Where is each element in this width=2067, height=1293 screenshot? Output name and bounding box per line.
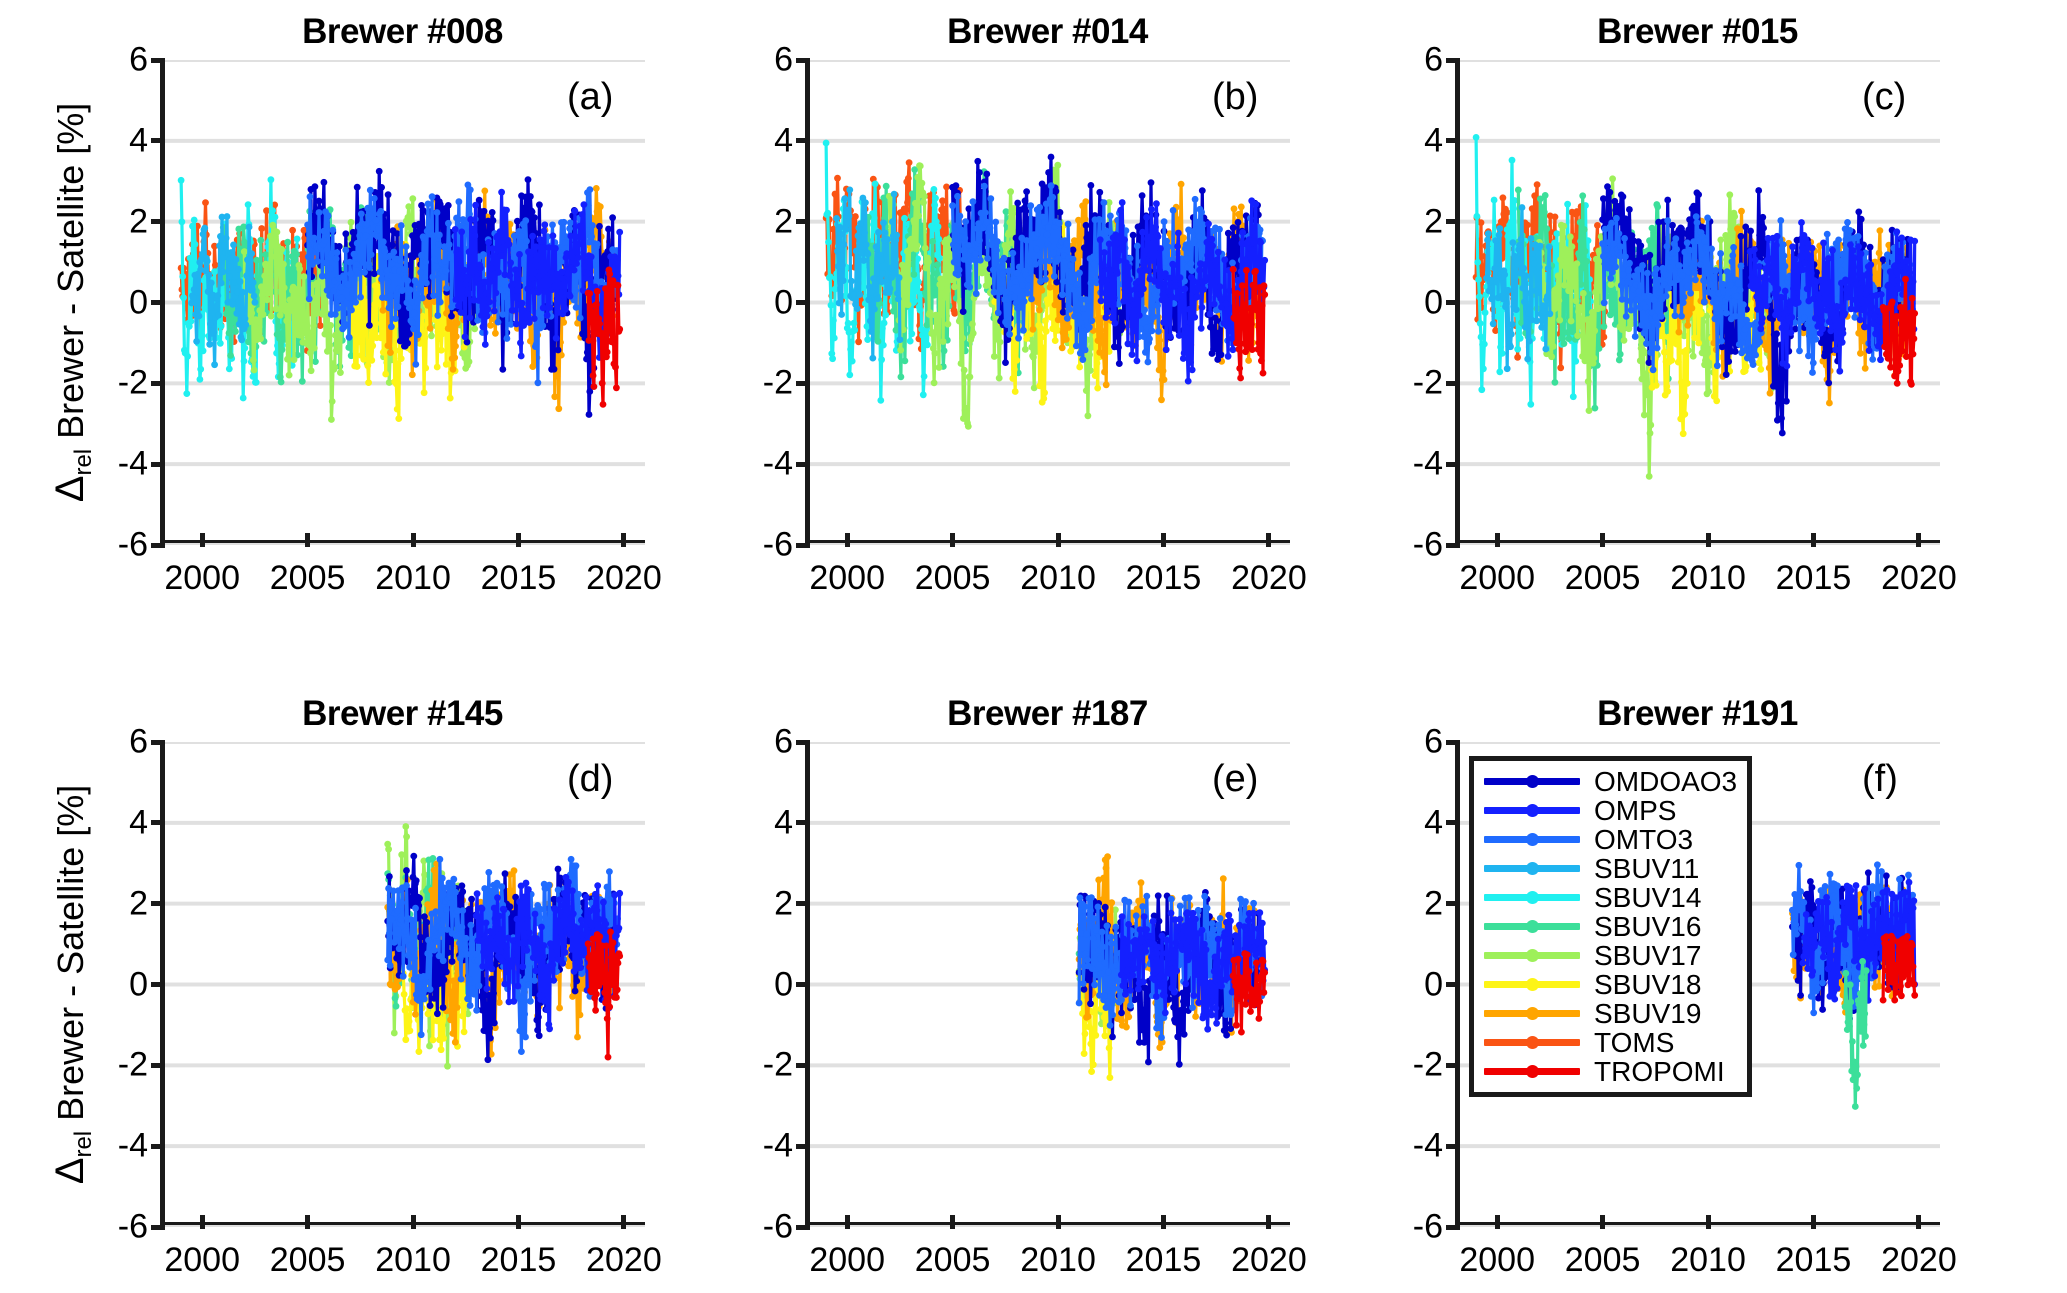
series-marker bbox=[1175, 230, 1182, 237]
series-marker bbox=[1199, 304, 1206, 311]
series-marker bbox=[1060, 278, 1067, 285]
y-axis-label-text: Brewer - Satellite [%] bbox=[50, 103, 91, 449]
series-marker bbox=[405, 214, 412, 221]
series-marker bbox=[824, 210, 831, 217]
series-marker bbox=[897, 347, 904, 354]
series-marker bbox=[912, 200, 919, 207]
series-marker bbox=[1139, 192, 1146, 199]
series-marker bbox=[1235, 306, 1242, 313]
series-marker bbox=[388, 323, 395, 330]
series-marker bbox=[585, 270, 592, 277]
series-marker bbox=[1009, 375, 1016, 382]
series-marker bbox=[560, 319, 567, 326]
series-marker bbox=[1006, 331, 1013, 338]
series-marker bbox=[982, 209, 989, 216]
series-marker bbox=[541, 228, 548, 235]
series-marker bbox=[1104, 309, 1111, 316]
series-marker bbox=[218, 280, 225, 287]
series-marker bbox=[187, 255, 194, 262]
series-marker bbox=[1007, 188, 1014, 195]
series-marker bbox=[210, 329, 217, 336]
series-marker bbox=[891, 191, 898, 198]
series-marker bbox=[1161, 280, 1168, 287]
series-marker bbox=[215, 292, 222, 299]
y-tick-mark bbox=[151, 381, 165, 386]
series-marker bbox=[389, 242, 396, 249]
series-marker bbox=[599, 380, 606, 387]
series-marker bbox=[929, 238, 936, 245]
series-marker bbox=[411, 310, 418, 317]
series-marker bbox=[1083, 387, 1090, 394]
series-marker bbox=[179, 218, 186, 225]
series-marker bbox=[450, 366, 457, 373]
series-marker bbox=[616, 326, 623, 333]
plot-area-a bbox=[160, 60, 645, 545]
series-marker bbox=[1235, 211, 1242, 218]
series-marker bbox=[456, 198, 463, 205]
series-marker bbox=[259, 292, 266, 299]
series-marker bbox=[223, 310, 230, 317]
series-marker bbox=[922, 330, 929, 337]
series-marker bbox=[1185, 378, 1192, 385]
series-marker bbox=[1236, 365, 1243, 372]
series-marker bbox=[417, 285, 424, 292]
series-marker bbox=[846, 187, 853, 194]
series-marker bbox=[353, 261, 360, 268]
series-marker bbox=[361, 269, 368, 276]
series-marker bbox=[1120, 244, 1127, 251]
series-marker bbox=[1114, 270, 1121, 277]
plot-canvas-c bbox=[1455, 60, 1940, 545]
series-marker bbox=[434, 209, 441, 216]
series-marker bbox=[310, 322, 317, 329]
series-marker bbox=[956, 267, 963, 274]
series-marker bbox=[1601, 334, 1608, 341]
series-marker bbox=[1497, 344, 1504, 351]
series-marker bbox=[987, 195, 994, 202]
series-marker bbox=[1152, 224, 1159, 231]
series-marker bbox=[340, 272, 347, 279]
series-marker bbox=[377, 269, 384, 276]
series-marker bbox=[571, 267, 578, 274]
series-marker bbox=[1186, 319, 1193, 326]
series-marker bbox=[1002, 359, 1009, 366]
series-marker bbox=[436, 319, 443, 326]
series-marker bbox=[324, 348, 331, 355]
series-marker bbox=[833, 192, 840, 199]
series-marker bbox=[1170, 207, 1177, 214]
series-marker bbox=[1198, 209, 1205, 216]
series-marker bbox=[533, 341, 540, 348]
series-marker bbox=[280, 261, 287, 268]
series-marker bbox=[1012, 388, 1019, 395]
series-marker bbox=[1014, 200, 1021, 207]
series-marker bbox=[1236, 346, 1243, 353]
series-marker bbox=[528, 275, 535, 282]
series-marker bbox=[211, 361, 218, 368]
series-marker bbox=[1507, 229, 1514, 236]
series-marker bbox=[275, 253, 282, 260]
series-marker bbox=[178, 177, 185, 184]
series-marker bbox=[314, 258, 321, 265]
series-marker bbox=[970, 330, 977, 337]
series-marker bbox=[1111, 295, 1118, 302]
series-marker bbox=[897, 336, 904, 343]
series-marker bbox=[239, 289, 246, 296]
series-marker bbox=[1552, 214, 1559, 221]
series-marker bbox=[244, 256, 251, 263]
series-marker bbox=[284, 356, 291, 363]
series-marker bbox=[510, 281, 517, 288]
series-marker bbox=[428, 332, 435, 339]
series-marker bbox=[1056, 220, 1063, 227]
series-marker bbox=[284, 239, 291, 246]
series-marker bbox=[1141, 307, 1148, 314]
series-marker bbox=[1060, 329, 1067, 336]
series-marker bbox=[378, 276, 385, 283]
series-marker bbox=[1049, 194, 1056, 201]
series-marker bbox=[1253, 307, 1260, 314]
series-marker bbox=[1091, 261, 1098, 268]
series-marker bbox=[856, 291, 863, 298]
series-marker bbox=[1129, 342, 1136, 349]
series-marker bbox=[572, 287, 579, 294]
series-marker bbox=[1122, 293, 1129, 300]
series-marker bbox=[306, 296, 313, 303]
series-marker bbox=[355, 270, 362, 277]
series-marker bbox=[615, 273, 622, 280]
series-marker bbox=[1160, 368, 1167, 375]
series-marker bbox=[902, 358, 909, 365]
series-marker bbox=[304, 222, 311, 229]
series-marker bbox=[990, 266, 997, 273]
x-tick-mark bbox=[411, 533, 416, 547]
series-marker bbox=[1215, 249, 1222, 256]
series-marker bbox=[911, 298, 918, 305]
series-marker bbox=[300, 273, 307, 280]
series-marker bbox=[1115, 344, 1122, 351]
series-marker bbox=[551, 366, 558, 373]
series-marker bbox=[536, 201, 543, 208]
series-marker bbox=[281, 284, 288, 291]
series-marker bbox=[249, 286, 256, 293]
series-marker bbox=[857, 220, 864, 227]
series-marker bbox=[865, 251, 872, 258]
series-marker bbox=[1184, 347, 1191, 354]
series-marker bbox=[1235, 219, 1242, 226]
series-marker bbox=[454, 320, 461, 327]
series-marker bbox=[1514, 346, 1521, 353]
series-marker bbox=[871, 215, 878, 222]
series-marker bbox=[1514, 354, 1521, 361]
series-marker bbox=[969, 321, 976, 328]
series-marker bbox=[1081, 244, 1088, 251]
series-marker bbox=[1143, 214, 1150, 221]
series-marker bbox=[469, 226, 476, 233]
series-marker bbox=[596, 321, 603, 328]
series-marker bbox=[1135, 278, 1142, 285]
y-tick-mark bbox=[151, 300, 165, 305]
plot-canvas-b bbox=[805, 60, 1290, 545]
series-marker bbox=[335, 348, 342, 355]
series-marker bbox=[513, 321, 520, 328]
series-marker bbox=[440, 274, 447, 281]
series-marker bbox=[587, 186, 594, 193]
x-tick-label: 2020 bbox=[1231, 559, 1307, 598]
series-marker bbox=[1234, 290, 1241, 297]
series-marker bbox=[342, 247, 349, 254]
series-marker bbox=[419, 295, 426, 302]
series-marker bbox=[1082, 216, 1089, 223]
series-marker bbox=[1055, 317, 1062, 324]
series-marker bbox=[951, 284, 958, 291]
series-marker bbox=[1004, 321, 1011, 328]
series-marker bbox=[358, 211, 365, 218]
series-marker bbox=[1044, 241, 1051, 248]
series-marker bbox=[348, 219, 355, 226]
series-marker bbox=[579, 211, 586, 218]
series-marker bbox=[1085, 412, 1092, 419]
series-marker bbox=[855, 338, 862, 345]
series-marker bbox=[316, 209, 323, 216]
series-marker bbox=[260, 311, 267, 318]
x-tick-label: 2020 bbox=[586, 559, 662, 598]
series-marker bbox=[312, 358, 319, 365]
series-marker bbox=[573, 304, 580, 311]
series-marker bbox=[456, 251, 463, 258]
series-marker bbox=[507, 259, 514, 266]
series-marker bbox=[1249, 246, 1256, 253]
series-marker bbox=[343, 300, 350, 307]
series-marker bbox=[220, 268, 227, 275]
series-marker bbox=[457, 259, 464, 266]
series-marker bbox=[1209, 324, 1216, 331]
series-marker bbox=[438, 347, 445, 354]
series-marker bbox=[1001, 255, 1008, 262]
series-marker bbox=[957, 213, 964, 220]
series-marker bbox=[1258, 357, 1265, 364]
x-tick-mark bbox=[1056, 533, 1061, 547]
series-marker bbox=[1059, 344, 1066, 351]
series-marker bbox=[1042, 317, 1049, 324]
series-marker bbox=[936, 255, 943, 262]
series-marker bbox=[1167, 333, 1174, 340]
series-marker bbox=[330, 288, 337, 295]
series-marker bbox=[1064, 315, 1071, 322]
series-marker bbox=[609, 214, 616, 221]
series-marker bbox=[992, 219, 999, 226]
series-marker bbox=[342, 230, 349, 237]
series-marker bbox=[1139, 229, 1146, 236]
series-marker bbox=[914, 242, 921, 249]
y-tick-mark bbox=[796, 219, 810, 224]
series-marker bbox=[1025, 304, 1032, 311]
series-marker bbox=[873, 243, 880, 250]
series-marker bbox=[262, 251, 269, 258]
series-marker bbox=[833, 215, 840, 222]
series-marker bbox=[482, 341, 489, 348]
series-marker bbox=[245, 338, 252, 345]
series-marker bbox=[265, 276, 272, 283]
series-marker bbox=[334, 249, 341, 256]
series-marker bbox=[931, 202, 938, 209]
series-marker bbox=[1142, 267, 1149, 274]
series-marker bbox=[311, 345, 318, 352]
series-marker bbox=[1145, 359, 1152, 366]
series-marker bbox=[573, 260, 580, 267]
series-marker bbox=[506, 272, 513, 279]
series-marker bbox=[831, 335, 838, 342]
series-marker bbox=[583, 356, 590, 363]
series-marker bbox=[1027, 202, 1034, 209]
series-marker bbox=[486, 299, 493, 306]
series-marker bbox=[243, 321, 250, 328]
series-marker bbox=[238, 336, 245, 343]
plot-area-c bbox=[1455, 60, 1940, 545]
series-marker bbox=[325, 212, 332, 219]
series-marker bbox=[1098, 298, 1105, 305]
series-marker bbox=[864, 336, 871, 343]
series-marker bbox=[884, 236, 891, 243]
series-marker bbox=[398, 222, 405, 229]
series-marker bbox=[840, 277, 847, 284]
series-marker bbox=[467, 216, 474, 223]
series-marker bbox=[1094, 360, 1101, 367]
series-marker bbox=[369, 205, 376, 212]
series-marker bbox=[1024, 290, 1031, 297]
series-marker bbox=[1134, 243, 1141, 250]
series-marker bbox=[395, 303, 402, 310]
series-marker bbox=[484, 313, 491, 320]
series-marker bbox=[331, 364, 338, 371]
series-marker bbox=[898, 374, 905, 381]
series-marker bbox=[286, 372, 293, 379]
series-marker bbox=[958, 360, 965, 367]
y-tick-mark bbox=[796, 381, 810, 386]
series-marker bbox=[941, 347, 948, 354]
series-marker bbox=[197, 376, 204, 383]
series-marker bbox=[1150, 313, 1157, 320]
series-marker bbox=[188, 318, 195, 325]
series-marker bbox=[888, 265, 895, 272]
series-marker bbox=[448, 324, 455, 331]
series-marker bbox=[1030, 326, 1037, 333]
series-marker bbox=[480, 251, 487, 258]
series-marker bbox=[201, 225, 208, 232]
series-marker bbox=[266, 289, 273, 296]
series-marker bbox=[351, 251, 358, 258]
figure-root: Brewer #0086420-2-4-62000200520102015202… bbox=[0, 0, 2067, 1293]
series-marker bbox=[301, 322, 308, 329]
series-marker bbox=[525, 176, 532, 183]
series-marker bbox=[555, 405, 562, 412]
series-marker bbox=[268, 313, 275, 320]
series-marker bbox=[374, 233, 381, 240]
series-marker bbox=[366, 264, 373, 271]
series-marker bbox=[1248, 321, 1255, 328]
series-marker bbox=[567, 219, 574, 226]
series-marker bbox=[1243, 267, 1250, 274]
panel-title-b: Brewer #014 bbox=[805, 12, 1290, 52]
series-marker bbox=[536, 273, 543, 280]
series-marker bbox=[829, 355, 836, 362]
series-marker bbox=[474, 275, 481, 282]
series-marker bbox=[594, 288, 601, 295]
series-marker bbox=[200, 347, 207, 354]
series-marker bbox=[357, 294, 364, 301]
series-marker bbox=[613, 384, 620, 391]
series-marker bbox=[1260, 370, 1267, 377]
series-marker bbox=[907, 338, 914, 345]
series-marker bbox=[237, 278, 244, 285]
series-marker bbox=[265, 261, 272, 268]
series-marker bbox=[1116, 360, 1123, 367]
series-marker bbox=[1148, 179, 1155, 186]
series-marker bbox=[1241, 301, 1248, 308]
series-marker bbox=[1221, 256, 1228, 263]
series-marker bbox=[1053, 188, 1060, 195]
series-marker bbox=[442, 258, 449, 265]
series-marker bbox=[1474, 259, 1481, 266]
series-marker bbox=[534, 263, 541, 270]
series-marker bbox=[605, 226, 612, 233]
series-marker bbox=[896, 274, 903, 281]
series-marker bbox=[1045, 297, 1052, 304]
series-marker bbox=[180, 294, 187, 301]
series-marker bbox=[533, 252, 540, 259]
series-marker bbox=[945, 321, 952, 328]
series-marker bbox=[1115, 234, 1122, 241]
series-marker bbox=[275, 323, 282, 330]
series-marker bbox=[1149, 257, 1156, 264]
series-marker bbox=[1022, 208, 1029, 215]
series-marker bbox=[410, 326, 417, 333]
series-marker bbox=[1259, 302, 1266, 309]
series-marker bbox=[1142, 349, 1149, 356]
series-marker bbox=[1107, 213, 1114, 220]
series-marker bbox=[917, 163, 924, 170]
series-marker bbox=[1234, 277, 1241, 284]
series-marker bbox=[1188, 267, 1195, 274]
series-marker bbox=[1478, 386, 1485, 393]
series-marker bbox=[345, 281, 352, 288]
series-marker bbox=[977, 257, 984, 264]
series-marker bbox=[935, 223, 942, 230]
series-marker bbox=[959, 335, 966, 342]
series-marker bbox=[995, 309, 1002, 316]
series-marker bbox=[326, 342, 333, 349]
series-marker bbox=[836, 300, 843, 307]
series-marker bbox=[939, 197, 946, 204]
series-marker bbox=[872, 181, 879, 188]
series-marker bbox=[1208, 236, 1215, 243]
series-marker bbox=[589, 222, 596, 229]
series-marker bbox=[1229, 246, 1236, 253]
series-marker bbox=[1200, 286, 1207, 293]
series-marker bbox=[529, 233, 536, 240]
series-marker bbox=[567, 293, 574, 300]
series-marker bbox=[368, 357, 375, 364]
series-marker bbox=[961, 235, 968, 242]
series-marker bbox=[1070, 247, 1077, 254]
series-marker bbox=[1036, 204, 1043, 211]
series-marker bbox=[1178, 181, 1185, 188]
series-marker bbox=[354, 184, 361, 191]
series-marker bbox=[417, 269, 424, 276]
series-marker bbox=[531, 315, 538, 322]
series-marker bbox=[329, 227, 336, 234]
plot-canvas-a bbox=[160, 60, 645, 545]
